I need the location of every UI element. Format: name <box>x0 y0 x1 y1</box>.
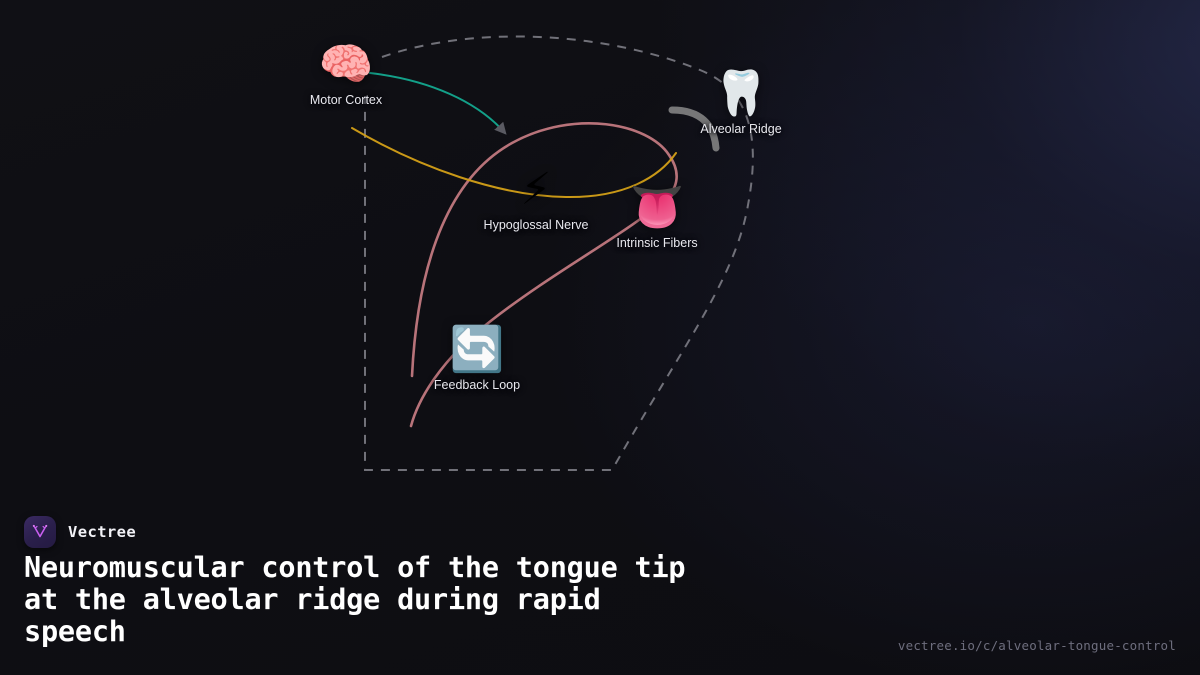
tongue-icon: 👅 <box>630 186 685 230</box>
node-label-motor-cortex: Motor Cortex <box>310 93 382 107</box>
node-alveolar-ridge[interactable]: 🦷 Alveolar Ridge <box>700 72 781 136</box>
node-hypoglossal-nerve[interactable]: ⚡ Hypoglossal Nerve <box>484 168 589 232</box>
edge-articulation-boundary <box>365 36 753 470</box>
brand-row[interactable]: Vectree <box>24 516 136 548</box>
node-label-alveolar-ridge: Alveolar Ridge <box>700 122 781 136</box>
site-url: vectree.io/c/alveolar-tongue-control <box>898 638 1176 653</box>
vectree-v-logo-icon <box>24 516 56 548</box>
edge-cortex-to-tongue-body <box>370 73 505 133</box>
cycle-arrows-icon: 🔄 <box>450 328 505 372</box>
concept-diagram: 🧠 Motor Cortex 🦷 Alveolar Ridge ⚡ Hypogl… <box>0 0 1200 500</box>
brain-icon: 🧠 <box>319 43 374 87</box>
diagram-edges-layer <box>0 0 1200 500</box>
node-label-hypoglossal-nerve: Hypoglossal Nerve <box>484 218 589 232</box>
lightning-bolt-icon: ⚡ <box>521 168 552 212</box>
node-intrinsic-fibers[interactable]: 👅 Intrinsic Fibers <box>616 186 697 250</box>
node-label-intrinsic-fibers: Intrinsic Fibers <box>616 236 697 250</box>
node-label-feedback-loop: Feedback Loop <box>434 378 520 392</box>
node-motor-cortex[interactable]: 🧠 Motor Cortex <box>310 43 382 107</box>
brand-name: Vectree <box>68 523 136 541</box>
footer: Vectree Neuromuscular control of the ton… <box>0 490 1200 675</box>
page-title: Neuromuscular control of the tongue tip … <box>24 552 914 649</box>
tooth-icon: 🦷 <box>714 72 769 116</box>
node-feedback-loop[interactable]: 🔄 Feedback Loop <box>434 328 520 392</box>
